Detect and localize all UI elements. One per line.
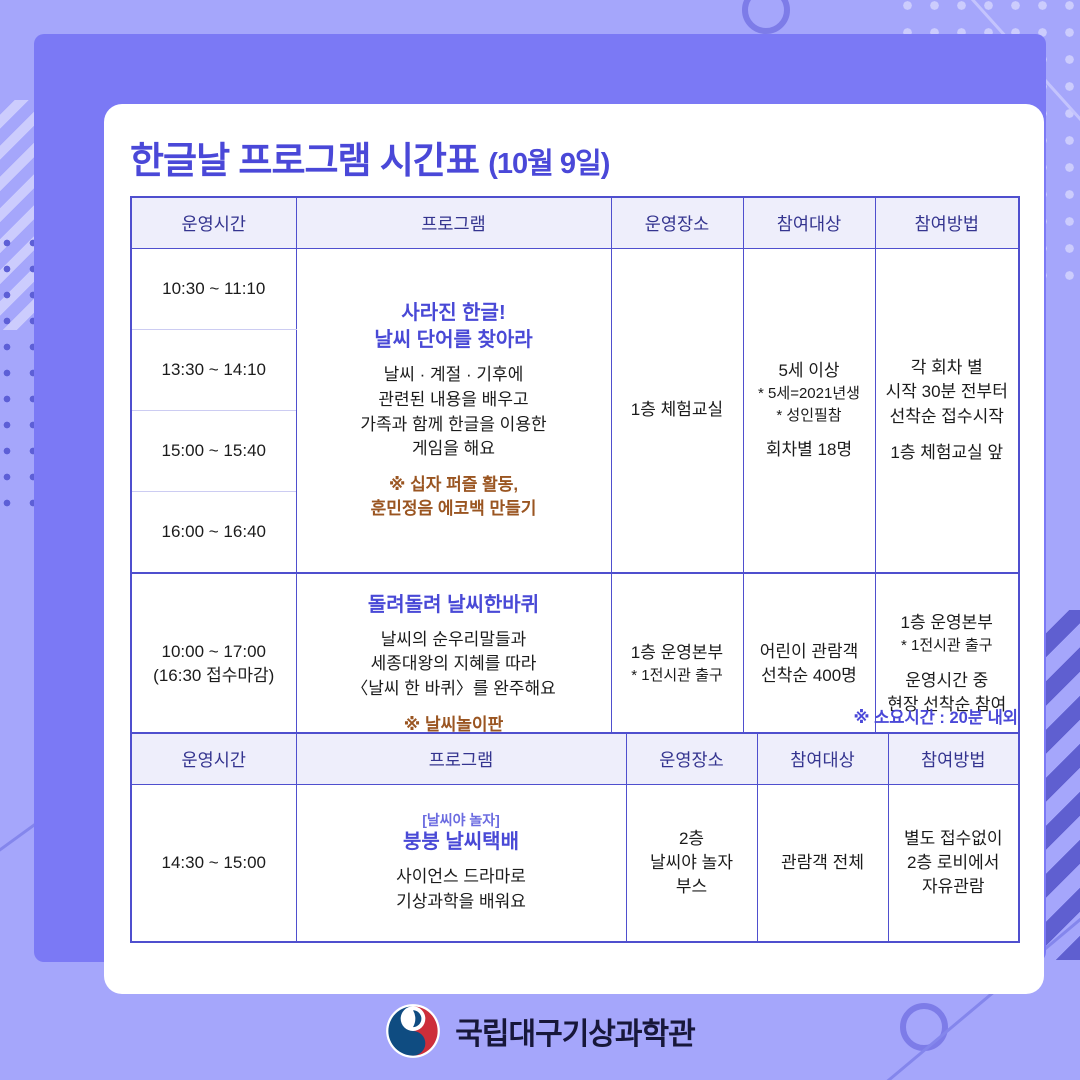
time-slot-4: 16:00 ~ 16:40 [131, 492, 296, 574]
time-slot-1: 10:30 ~ 11:10 [131, 249, 296, 330]
place-main-2: 1층 운영본부 [615, 641, 740, 665]
method-note-2: * 1전시관 출구 [879, 635, 1016, 656]
schedule-table-secondary: 운영시간 프로그램 운영장소 참여대상 참여방법 14:30 ~ 15:00 [… [130, 732, 1020, 943]
spacer [747, 426, 872, 438]
organization-name: 국립대구기상과학관 [455, 1009, 694, 1053]
time-slot-3: 15:00 ~ 15:40 [131, 411, 296, 492]
column-header-target: 참여대상 [743, 197, 875, 249]
column-header-time: 운영시간 [131, 733, 296, 785]
page-title: 한글날 프로그램 시간표 (10월 9일) [130, 130, 609, 184]
page-title-date: (10월 9일) [488, 148, 609, 180]
target-cell-3: 관람객 전체 [757, 785, 888, 943]
place-note-2: * 1전시관 출구 [615, 665, 740, 686]
method-main-1: 각 회차 별 시작 30분 전부터 선착순 접수시작 [879, 356, 1016, 428]
column-header-time: 운영시간 [131, 197, 296, 249]
table-header-row: 운영시간 프로그램 운영장소 참여대상 참여방법 [131, 733, 1019, 785]
column-header-place: 운영장소 [611, 197, 743, 249]
place-cell-1: 1층 체험교실 [611, 249, 743, 574]
column-header-place: 운영장소 [626, 733, 757, 785]
program-desc-3: 사이언스 드라마로 기상과학을 배워요 [300, 865, 623, 914]
program-desc-1: 날씨 · 계절 · 기후에 관련된 내용을 배우고 가족과 함께 한글을 이용한… [300, 363, 608, 462]
target-note-1: * 5세=2021년생 [747, 383, 872, 404]
time-slot-6: 14:30 ~ 15:00 [131, 785, 296, 943]
program-title-3: 붕붕 날씨택배 [300, 829, 623, 856]
program-note-1: ※ 십자 퍼즐 활동, 훈민정음 에코백 만들기 [300, 473, 608, 521]
program-cell-3: [날씨야 놀자] 붕붕 날씨택배 사이언스 드라마로 기상과학을 배워요 [296, 785, 626, 943]
column-header-target: 참여대상 [757, 733, 888, 785]
time-slot-2: 13:30 ~ 14:10 [131, 330, 296, 411]
column-header-program: 프로그램 [296, 733, 626, 785]
program-title-1-line1: 사라진 한글! [300, 300, 608, 327]
time-slot-5-line2: (16:30 접수마감) [135, 664, 293, 688]
target-note-2: * 성인필참 [747, 405, 872, 426]
program-title-1-line2: 날씨 단어를 찾아라 [300, 327, 608, 354]
table-row: 10:30 ~ 11:10 사라진 한글! 날씨 단어를 찾아라 날씨 · 계절… [131, 249, 1019, 330]
schedule-table-primary: 운영시간 프로그램 운영장소 참여대상 참여방법 10:30 ~ 11:10 사… [130, 196, 1020, 756]
column-header-program: 프로그램 [296, 197, 611, 249]
program-cell-1: 사라진 한글! 날씨 단어를 찾아라 날씨 · 계절 · 기후에 관련된 내용을… [296, 249, 611, 574]
program-title-2: 돌려돌려 날씨한바퀴 [300, 592, 608, 619]
column-header-method: 참여방법 [875, 197, 1019, 249]
table-header-row: 운영시간 프로그램 운영장소 참여대상 참여방법 [131, 197, 1019, 249]
duration-note: ※ 소요시간 : 20분 내외 [130, 704, 1018, 728]
poster-frame: 한글날 프로그램 시간표 (10월 9일) 운영시간 프로그램 운영장소 참여대… [34, 34, 1046, 962]
spacer [879, 657, 1016, 669]
column-header-method: 참여방법 [888, 733, 1019, 785]
target-cell-1: 5세 이상 * 5세=2021년생 * 성인필참 회차별 18명 [743, 249, 875, 574]
target-capacity-1: 회차별 18명 [747, 438, 872, 462]
poster-card: 한글날 프로그램 시간표 (10월 9일) 운영시간 프로그램 운영장소 참여대… [104, 104, 1044, 994]
page-title-main: 한글날 프로그램 시간표 [130, 140, 479, 181]
method-cell-1: 각 회차 별 시작 30분 전부터 선착순 접수시작 1층 체험교실 앞 [875, 249, 1019, 574]
method-cell-3: 별도 접수없이 2층 로비에서 자유관람 [888, 785, 1019, 943]
place-cell-3: 2층 날씨야 놀자 부스 [626, 785, 757, 943]
target-main-1: 5세 이상 [747, 359, 872, 383]
program-desc-2: 날씨의 순우리말들과 세종대왕의 지혜를 따라 〈날씨 한 바퀴〉를 완주해요 [300, 628, 608, 702]
program-label-3: [날씨야 놀자] [300, 811, 623, 829]
circle-outline-top [742, 0, 790, 34]
spacer [879, 429, 1016, 441]
method-main-2: 1층 운영본부 [879, 611, 1016, 635]
method-place-1: 1층 체험교실 앞 [879, 441, 1016, 465]
footer: 국립대구기상과학관 [0, 1000, 1080, 1062]
table-row: 14:30 ~ 15:00 [날씨야 놀자] 붕붕 날씨택배 사이언스 드라마로… [131, 785, 1019, 943]
taegeuk-logo-icon [385, 1003, 441, 1059]
time-slot-5-line1: 10:00 ~ 17:00 [135, 640, 293, 664]
